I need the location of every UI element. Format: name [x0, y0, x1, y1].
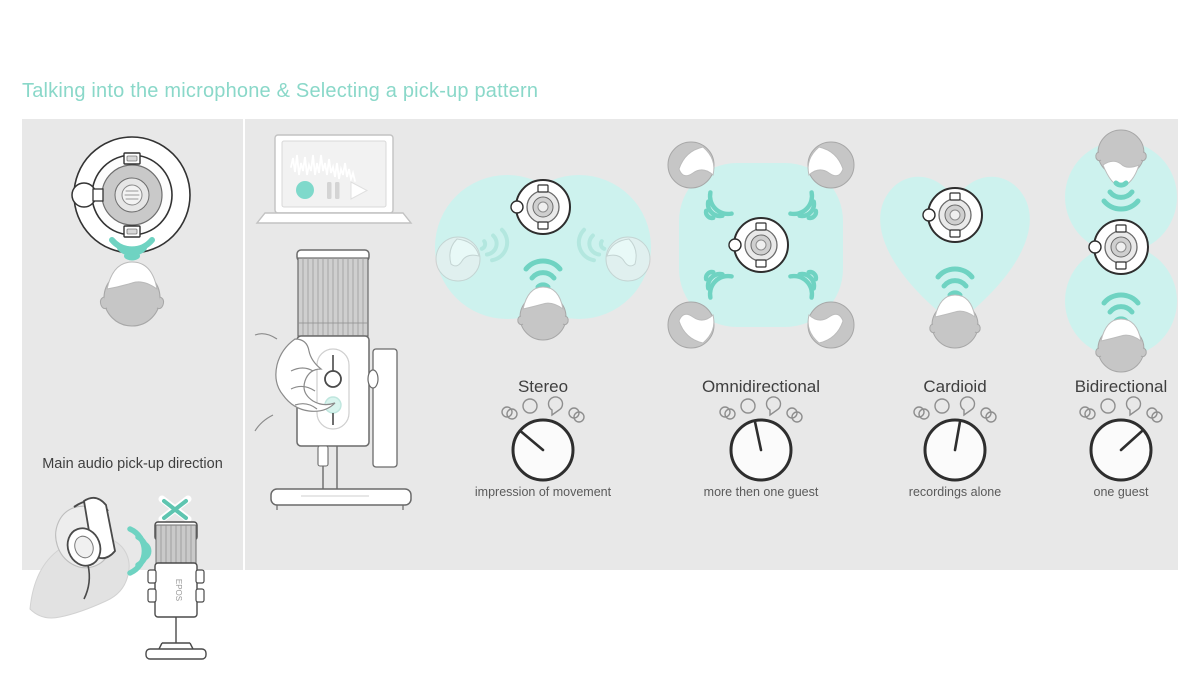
bidirectional-icon: [914, 407, 929, 419]
cardioid-icon: [961, 397, 975, 415]
microphone-top-view-illustration: [22, 121, 243, 341]
knob-pattern-icons: [914, 397, 996, 422]
stereo-icon: [569, 408, 584, 422]
main-pickup-direction-caption: Main audio pick-up direction: [22, 456, 243, 472]
page-root: Talking into the microphone & Selecting …: [0, 0, 1200, 675]
bidirectional-icon: [1080, 407, 1095, 419]
knob-pattern-icons: [720, 397, 802, 422]
knob-pattern-icons: [1080, 397, 1162, 422]
record-button-icon: [296, 181, 314, 199]
do-not-talk-into-side-illustration: EPOS: [22, 477, 243, 667]
cardioid-icon: [1127, 397, 1141, 415]
stereo-icon: [787, 408, 802, 422]
pattern-omnidirectional-diagram: [651, 119, 871, 377]
knob-omnidirectional[interactable]: [712, 395, 810, 487]
omnidirectional-icon: [741, 399, 755, 413]
pattern-bidirectional-diagram: [1011, 119, 1200, 377]
knob-cardioid[interactable]: [906, 395, 1004, 487]
pattern-stereo: Stereo impression of movement: [433, 119, 653, 570]
listener-head: [100, 262, 163, 326]
stereo-icon: [1147, 408, 1162, 422]
page-title: Talking into the microphone & Selecting …: [22, 80, 538, 103]
audio-wave-icon: [130, 529, 149, 573]
right-panel: Stereo impression of movement: [245, 119, 1178, 570]
omnidirectional-icon: [523, 399, 537, 413]
knob-stereo[interactable]: [494, 395, 592, 487]
forbidden-x-icon: [162, 499, 188, 519]
svg-text:EPOS: EPOS: [174, 579, 183, 601]
microphone-front-large: [255, 250, 411, 510]
microphone-front: EPOS: [146, 522, 206, 659]
pattern-bidirectional: Bidirectional one guest: [1011, 119, 1200, 570]
pattern-subtitle: more then one guest: [651, 485, 871, 499]
bidirectional-icon: [502, 407, 517, 419]
stereo-icon: [981, 408, 996, 422]
omnidirectional-icon: [935, 399, 949, 413]
cardioid-icon: [549, 397, 563, 415]
pattern-subtitle: impression of movement: [433, 485, 653, 499]
pattern-subtitle: one guest: [1011, 485, 1200, 499]
pattern-omnidirectional: Omnidirectional more then one guest: [651, 119, 871, 570]
cardioid-icon: [767, 397, 781, 415]
pattern-stereo-diagram: [433, 119, 653, 377]
listener-head-bottom-left: [668, 302, 714, 348]
device-illustration: [251, 127, 441, 557]
pattern-name: Stereo: [433, 377, 653, 397]
content-panel: Main audio pick-up direction: [22, 119, 1178, 570]
pattern-name: Omnidirectional: [651, 377, 871, 397]
left-panel: Main audio pick-up direction: [22, 119, 243, 570]
laptop-with-recording-software: [257, 135, 411, 223]
bidirectional-icon: [720, 407, 735, 419]
listener-head-top-left: [668, 142, 714, 188]
knob-bidirectional[interactable]: [1072, 395, 1170, 487]
pattern-name: Bidirectional: [1011, 377, 1200, 397]
omnidirectional-icon: [1101, 399, 1115, 413]
knob-pattern-icons: [502, 397, 584, 422]
